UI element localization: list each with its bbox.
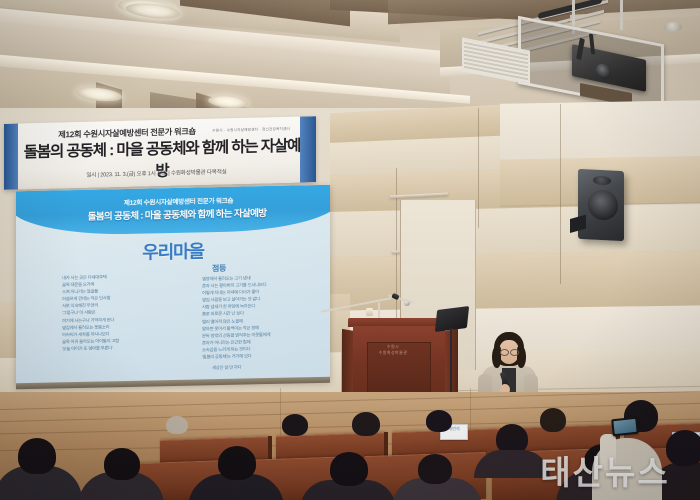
podium-emblem-line1: 수원시	[387, 344, 399, 349]
slide-right-column: 열광에서 들려오는 고기 냄새 혼자 사는 할아버지 고기를 드시나보다 어떻게…	[202, 273, 330, 361]
podium-lamp	[366, 308, 373, 316]
podium-emblem-line2: 수원화성박물관	[379, 350, 408, 355]
event-banner: 수원시 · 수원시자살예방센터 · 정신건강복지센터 제12회 수원시자살예방센…	[4, 116, 316, 190]
slide-left-column: 내가 사는 곳은 다세대주택 골목 대문을 오가며 스쳐 지나가는 얼굴들 어설…	[62, 272, 192, 353]
presenter-eyeglass-left-icon	[500, 349, 509, 356]
audience-head	[426, 410, 452, 432]
presenter-hair-left	[492, 346, 501, 368]
audience-head	[540, 408, 566, 432]
slide-tail-line: 세상은 살 만 하다	[212, 365, 241, 372]
audience-head	[330, 452, 368, 486]
photographer-arm	[600, 434, 616, 470]
smartphone-screen	[613, 419, 636, 434]
audience-head	[666, 430, 700, 466]
smartphone[interactable]	[611, 417, 639, 437]
projection-screen: 제12회 수원시자살예방센터 전문가 워크숍 돌봄의 공동체 : 마을 공동체와…	[16, 185, 330, 388]
presenter-hair-right	[517, 346, 526, 368]
audience-head	[218, 446, 256, 480]
slide-heading: 우리마을	[16, 235, 330, 268]
banner-edge-left	[4, 123, 18, 189]
podium-emblem: 수원시 수원화성박물관	[370, 344, 416, 356]
audience-head	[418, 454, 452, 484]
slide-right-column-heading: 점등	[212, 263, 226, 274]
audience-head	[166, 416, 188, 434]
presenter-eyeglass-right-icon	[510, 349, 519, 356]
audience-head	[282, 414, 308, 436]
pa-speaker	[578, 169, 624, 241]
audience-head	[104, 448, 140, 480]
audience-head	[352, 412, 380, 436]
audience-head	[18, 438, 56, 474]
photograph-lecture-hall: 수원시 · 수원시자살예방센터 · 정신건강복지센터 제12회 수원시자살예방센…	[0, 0, 700, 500]
